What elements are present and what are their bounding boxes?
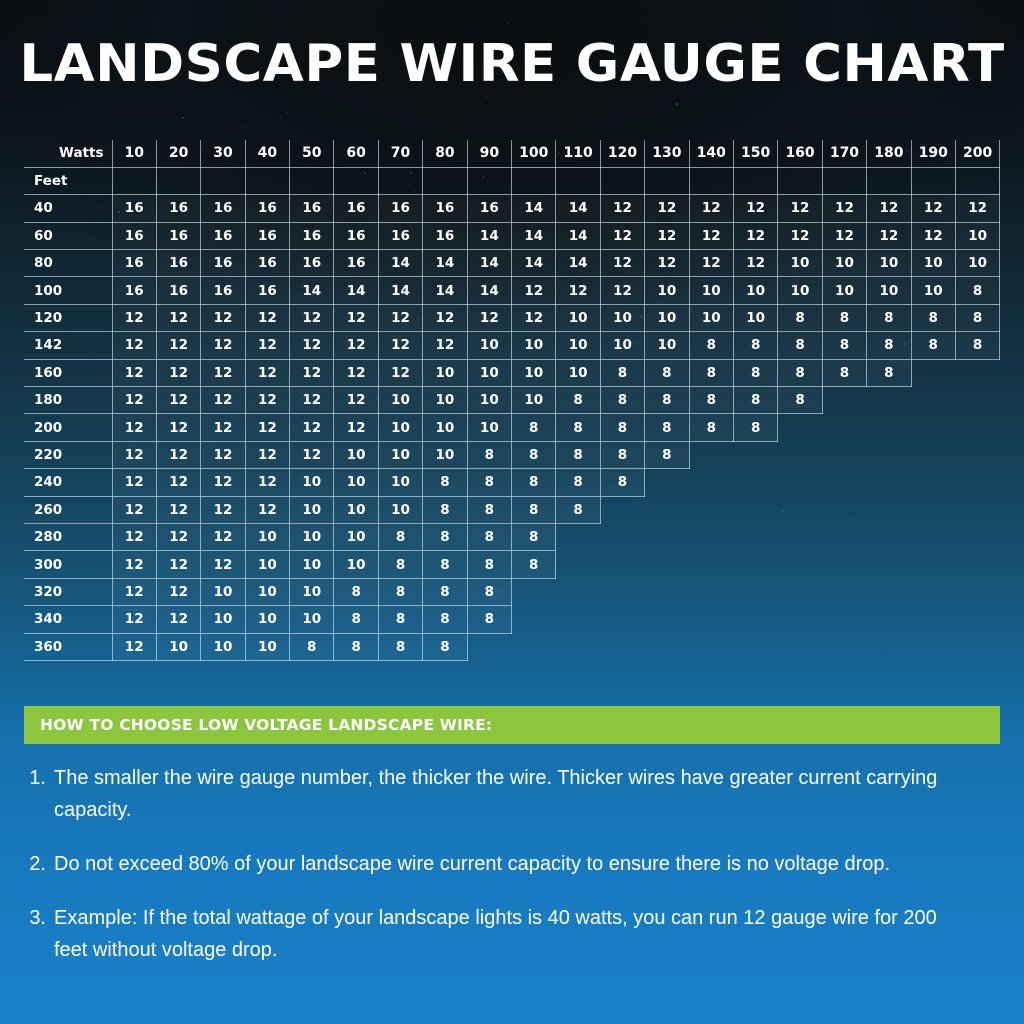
gauge-cell: 12 bbox=[112, 387, 156, 414]
column-header-watts-80: 80 bbox=[423, 140, 467, 167]
gauge-cell: 8 bbox=[867, 304, 911, 331]
gauge-cell: 12 bbox=[423, 304, 467, 331]
wire-gauge-table-container: Watts 1020304050607080901001101201301401… bbox=[24, 140, 1000, 661]
feet-axis-blank-cell bbox=[822, 167, 866, 194]
gauge-cell-empty bbox=[911, 496, 955, 523]
column-header-watts-180: 180 bbox=[867, 140, 911, 167]
gauge-cell: 8 bbox=[600, 441, 644, 468]
table-row: 142121212121212121210101010108888888 bbox=[24, 332, 1000, 359]
table-row: 32012121010108888 bbox=[24, 578, 1000, 605]
gauge-cell: 8 bbox=[512, 414, 556, 441]
column-header-watts-200: 200 bbox=[955, 140, 999, 167]
gauge-cell: 12 bbox=[156, 606, 200, 633]
gauge-cell: 12 bbox=[156, 387, 200, 414]
gauge-cell: 16 bbox=[334, 222, 378, 249]
gauge-cell: 10 bbox=[911, 250, 955, 277]
gauge-cell: 10 bbox=[290, 551, 334, 578]
gauge-cell-empty bbox=[512, 578, 556, 605]
gauge-cell: 8 bbox=[778, 387, 822, 414]
gauge-cell-empty bbox=[867, 441, 911, 468]
gauge-cell-empty bbox=[867, 469, 911, 496]
gauge-cell: 12 bbox=[911, 222, 955, 249]
gauge-cell: 10 bbox=[378, 441, 422, 468]
gauge-cell-empty bbox=[911, 578, 955, 605]
guide-note-text: Do not exceed 80% of your landscape wire… bbox=[54, 848, 890, 880]
gauge-cell: 10 bbox=[689, 304, 733, 331]
gauge-cell: 12 bbox=[201, 304, 245, 331]
row-label-feet-220: 220 bbox=[24, 441, 112, 468]
feet-axis-blank-cell bbox=[245, 167, 289, 194]
table-row: 34012121010108888 bbox=[24, 606, 1000, 633]
gauge-cell: 12 bbox=[156, 304, 200, 331]
gauge-cell: 12 bbox=[112, 304, 156, 331]
gauge-cell: 12 bbox=[955, 195, 999, 222]
gauge-cell-empty bbox=[955, 387, 999, 414]
gauge-cell: 8 bbox=[467, 578, 511, 605]
guide-note-number: 3. bbox=[24, 902, 54, 934]
gauge-cell: 10 bbox=[290, 523, 334, 550]
gauge-cell: 12 bbox=[600, 277, 644, 304]
column-header-watts-60: 60 bbox=[334, 140, 378, 167]
gauge-cell: 8 bbox=[423, 523, 467, 550]
gauge-cell: 10 bbox=[689, 277, 733, 304]
table-body: Feet401616161616161616161414121212121212… bbox=[24, 167, 1000, 660]
feet-axis-blank-cell bbox=[290, 167, 334, 194]
column-header-watts-10: 10 bbox=[112, 140, 156, 167]
gauge-cell: 10 bbox=[290, 606, 334, 633]
gauge-cell: 12 bbox=[201, 469, 245, 496]
gauge-cell-empty bbox=[955, 414, 999, 441]
gauge-cell: 12 bbox=[245, 359, 289, 386]
gauge-cell: 10 bbox=[822, 250, 866, 277]
gauge-cell: 12 bbox=[112, 414, 156, 441]
gauge-cell-empty bbox=[955, 633, 999, 660]
gauge-cell: 12 bbox=[512, 304, 556, 331]
gauge-cell: 10 bbox=[778, 250, 822, 277]
gauge-cell-empty bbox=[822, 633, 866, 660]
gauge-cell-empty bbox=[955, 551, 999, 578]
gauge-cell-empty bbox=[778, 551, 822, 578]
gauge-cell-empty bbox=[556, 523, 600, 550]
gauge-cell: 14 bbox=[556, 195, 600, 222]
gauge-cell: 12 bbox=[689, 250, 733, 277]
gauge-cell: 12 bbox=[378, 359, 422, 386]
gauge-cell: 14 bbox=[378, 277, 422, 304]
row-label-feet-340: 340 bbox=[24, 606, 112, 633]
gauge-cell: 10 bbox=[378, 387, 422, 414]
gauge-cell: 12 bbox=[112, 441, 156, 468]
feet-axis-blank-cell bbox=[689, 167, 733, 194]
gauge-cell: 10 bbox=[645, 332, 689, 359]
feet-axis-blank-cell bbox=[378, 167, 422, 194]
gauge-cell: 10 bbox=[778, 277, 822, 304]
gauge-cell: 16 bbox=[423, 195, 467, 222]
gauge-cell: 12 bbox=[600, 222, 644, 249]
gauge-cell: 8 bbox=[733, 387, 777, 414]
gauge-cell-empty bbox=[867, 414, 911, 441]
gauge-cell-empty bbox=[645, 523, 689, 550]
column-header-watts-100: 100 bbox=[512, 140, 556, 167]
gauge-cell: 14 bbox=[378, 250, 422, 277]
gauge-cell: 12 bbox=[556, 277, 600, 304]
gauge-cell-empty bbox=[955, 496, 999, 523]
gauge-cell-empty bbox=[778, 441, 822, 468]
gauge-cell: 12 bbox=[334, 304, 378, 331]
gauge-cell: 12 bbox=[290, 387, 334, 414]
gauge-cell: 8 bbox=[733, 414, 777, 441]
feet-axis-blank-cell bbox=[645, 167, 689, 194]
gauge-cell-empty bbox=[645, 578, 689, 605]
feet-axis-blank-cell bbox=[201, 167, 245, 194]
gauge-cell: 16 bbox=[201, 250, 245, 277]
gauge-cell: 12 bbox=[911, 195, 955, 222]
gauge-cell: 14 bbox=[423, 250, 467, 277]
column-header-watts-20: 20 bbox=[156, 140, 200, 167]
gauge-cell: 16 bbox=[290, 250, 334, 277]
gauge-cell: 14 bbox=[556, 222, 600, 249]
gauge-cell: 16 bbox=[112, 277, 156, 304]
gauge-cell-empty bbox=[778, 469, 822, 496]
gauge-cell: 8 bbox=[334, 633, 378, 660]
table-row: 260121212121010108888 bbox=[24, 496, 1000, 523]
gauge-cell: 8 bbox=[778, 304, 822, 331]
gauge-cell: 12 bbox=[245, 387, 289, 414]
gauge-cell: 14 bbox=[467, 222, 511, 249]
gauge-cell: 10 bbox=[955, 222, 999, 249]
gauge-cell: 12 bbox=[733, 222, 777, 249]
gauge-cell: 12 bbox=[201, 523, 245, 550]
gauge-cell: 10 bbox=[733, 277, 777, 304]
gauge-cell-empty bbox=[733, 633, 777, 660]
gauge-cell: 10 bbox=[245, 606, 289, 633]
page-title: LANDSCAPE WIRE GAUGE CHART bbox=[0, 34, 1024, 94]
gauge-cell: 12 bbox=[201, 387, 245, 414]
feet-axis-blank-cell bbox=[423, 167, 467, 194]
row-label-feet-280: 280 bbox=[24, 523, 112, 550]
gauge-cell: 8 bbox=[423, 551, 467, 578]
guide-heading-bar: HOW TO CHOOSE LOW VOLTAGE LANDSCAPE WIRE… bbox=[24, 706, 1000, 744]
gauge-cell-empty bbox=[822, 578, 866, 605]
gauge-cell: 8 bbox=[467, 551, 511, 578]
gauge-cell: 10 bbox=[467, 332, 511, 359]
gauge-cell: 12 bbox=[645, 195, 689, 222]
gauge-cell: 8 bbox=[378, 633, 422, 660]
gauge-cell-empty bbox=[911, 414, 955, 441]
gauge-cell: 16 bbox=[112, 195, 156, 222]
gauge-cell: 10 bbox=[334, 496, 378, 523]
gauge-cell: 10 bbox=[867, 250, 911, 277]
row-label-feet-300: 300 bbox=[24, 551, 112, 578]
gauge-cell: 8 bbox=[423, 496, 467, 523]
column-header-watts-110: 110 bbox=[556, 140, 600, 167]
gauge-cell-empty bbox=[512, 606, 556, 633]
gauge-cell-empty bbox=[778, 523, 822, 550]
gauge-cell: 12 bbox=[378, 304, 422, 331]
gauge-cell-empty bbox=[822, 496, 866, 523]
gauge-cell-empty bbox=[733, 469, 777, 496]
gauge-cell: 8 bbox=[512, 523, 556, 550]
gauge-cell: 8 bbox=[733, 359, 777, 386]
wire-gauge-table: Watts 1020304050607080901001101201301401… bbox=[24, 140, 1000, 661]
gauge-cell: 8 bbox=[778, 359, 822, 386]
gauge-cell-empty bbox=[645, 606, 689, 633]
gauge-cell: 8 bbox=[645, 359, 689, 386]
feet-axis-blank-cell bbox=[733, 167, 777, 194]
gauge-cell-empty bbox=[689, 523, 733, 550]
gauge-cell: 10 bbox=[512, 387, 556, 414]
table-row: 8016161616161614141414141212121210101010… bbox=[24, 250, 1000, 277]
row-label-feet-240: 240 bbox=[24, 469, 112, 496]
table-row: 4016161616161616161614141212121212121212… bbox=[24, 195, 1000, 222]
gauge-cell: 12 bbox=[867, 195, 911, 222]
feet-axis-blank-cell bbox=[334, 167, 378, 194]
gauge-cell-empty bbox=[600, 633, 644, 660]
gauge-cell: 16 bbox=[290, 195, 334, 222]
gauge-cell: 12 bbox=[201, 496, 245, 523]
gauge-cell-empty bbox=[689, 496, 733, 523]
gauge-cell: 10 bbox=[423, 387, 467, 414]
gauge-cell: 8 bbox=[378, 578, 422, 605]
table-row: 16012121212121212101010108888888 bbox=[24, 359, 1000, 386]
gauge-cell: 8 bbox=[955, 332, 999, 359]
gauge-cell: 8 bbox=[512, 441, 556, 468]
gauge-cell: 10 bbox=[467, 387, 511, 414]
gauge-cell: 16 bbox=[334, 250, 378, 277]
guide-note: 1.The smaller the wire gauge number, the… bbox=[24, 762, 976, 826]
gauge-cell: 12 bbox=[334, 359, 378, 386]
gauge-cell-empty bbox=[778, 578, 822, 605]
guide-heading-text: HOW TO CHOOSE LOW VOLTAGE LANDSCAPE WIRE… bbox=[24, 716, 492, 734]
gauge-cell-empty bbox=[556, 633, 600, 660]
gauge-cell-empty bbox=[955, 441, 999, 468]
gauge-cell: 14 bbox=[512, 250, 556, 277]
gauge-cell: 16 bbox=[467, 195, 511, 222]
table-row: 3001212121010108888 bbox=[24, 551, 1000, 578]
gauge-cell: 8 bbox=[467, 441, 511, 468]
gauge-cell: 10 bbox=[867, 277, 911, 304]
gauge-cell: 8 bbox=[378, 551, 422, 578]
gauge-cell: 10 bbox=[423, 414, 467, 441]
gauge-cell: 10 bbox=[423, 359, 467, 386]
gauge-cell: 12 bbox=[290, 414, 334, 441]
gauge-cell-empty bbox=[556, 578, 600, 605]
gauge-cell: 12 bbox=[423, 332, 467, 359]
gauge-cell-empty bbox=[822, 606, 866, 633]
gauge-cell: 12 bbox=[378, 332, 422, 359]
gauge-cell: 12 bbox=[334, 387, 378, 414]
gauge-cell: 8 bbox=[911, 332, 955, 359]
gauge-cell: 12 bbox=[290, 304, 334, 331]
gauge-cell: 12 bbox=[733, 250, 777, 277]
gauge-cell: 10 bbox=[556, 304, 600, 331]
gauge-cell: 16 bbox=[423, 222, 467, 249]
gauge-cell: 10 bbox=[645, 277, 689, 304]
guide-note: 3.Example: If the total wattage of your … bbox=[24, 902, 976, 966]
gauge-cell: 10 bbox=[378, 414, 422, 441]
guide-note-number: 2. bbox=[24, 848, 54, 880]
gauge-cell-empty bbox=[822, 469, 866, 496]
feet-axis-blank-cell bbox=[112, 167, 156, 194]
gauge-cell-empty bbox=[911, 606, 955, 633]
gauge-cell: 10 bbox=[334, 469, 378, 496]
gauge-cell: 12 bbox=[112, 332, 156, 359]
gauge-cell: 16 bbox=[201, 277, 245, 304]
column-header-watts-140: 140 bbox=[689, 140, 733, 167]
feet-axis-blank-cell bbox=[911, 167, 955, 194]
table-row: 360121010108888 bbox=[24, 633, 1000, 660]
gauge-cell: 12 bbox=[112, 606, 156, 633]
gauge-cell-empty bbox=[867, 633, 911, 660]
gauge-cell: 8 bbox=[600, 414, 644, 441]
gauge-cell: 16 bbox=[156, 222, 200, 249]
gauge-cell: 16 bbox=[156, 195, 200, 222]
row-label-feet-120: 120 bbox=[24, 304, 112, 331]
gauge-cell: 16 bbox=[201, 195, 245, 222]
guide-notes-list: 1.The smaller the wire gauge number, the… bbox=[24, 762, 976, 988]
gauge-cell: 16 bbox=[290, 222, 334, 249]
gauge-cell-empty bbox=[867, 496, 911, 523]
gauge-cell-empty bbox=[689, 578, 733, 605]
row-label-feet-260: 260 bbox=[24, 496, 112, 523]
gauge-cell-empty bbox=[778, 633, 822, 660]
gauge-cell-empty bbox=[733, 551, 777, 578]
gauge-cell: 10 bbox=[733, 304, 777, 331]
gauge-cell: 8 bbox=[512, 469, 556, 496]
gauge-cell: 10 bbox=[600, 304, 644, 331]
table-row: 200121212121212101010888888 bbox=[24, 414, 1000, 441]
gauge-cell-empty bbox=[955, 469, 999, 496]
gauge-cell: 12 bbox=[112, 496, 156, 523]
gauge-cell: 12 bbox=[689, 195, 733, 222]
gauge-cell: 8 bbox=[467, 523, 511, 550]
gauge-cell-empty bbox=[867, 523, 911, 550]
gauge-cell-empty bbox=[955, 523, 999, 550]
gauge-cell-empty bbox=[600, 578, 644, 605]
gauge-cell: 16 bbox=[112, 222, 156, 249]
gauge-cell: 10 bbox=[556, 359, 600, 386]
gauge-cell: 14 bbox=[467, 277, 511, 304]
column-header-watts-160: 160 bbox=[778, 140, 822, 167]
gauge-cell: 10 bbox=[290, 496, 334, 523]
row-label-feet-60: 60 bbox=[24, 222, 112, 249]
column-header-watts-190: 190 bbox=[911, 140, 955, 167]
gauge-cell-empty bbox=[822, 551, 866, 578]
table-row: 6016161616161616161414141212121212121212… bbox=[24, 222, 1000, 249]
gauge-cell: 14 bbox=[290, 277, 334, 304]
gauge-cell: 12 bbox=[290, 332, 334, 359]
gauge-cell-empty bbox=[600, 606, 644, 633]
gauge-cell-empty bbox=[733, 496, 777, 523]
gauge-cell-empty bbox=[778, 606, 822, 633]
gauge-cell-empty bbox=[556, 551, 600, 578]
gauge-cell: 12 bbox=[112, 359, 156, 386]
gauge-cell: 10 bbox=[645, 304, 689, 331]
gauge-cell: 12 bbox=[201, 332, 245, 359]
gauge-cell: 8 bbox=[556, 469, 600, 496]
gauge-cell: 10 bbox=[334, 441, 378, 468]
gauge-cell: 12 bbox=[112, 523, 156, 550]
gauge-cell: 14 bbox=[423, 277, 467, 304]
infographic-page: LANDSCAPE WIRE GAUGE CHART Watts 1020304… bbox=[0, 0, 1024, 1024]
gauge-cell: 12 bbox=[156, 551, 200, 578]
gauge-cell-empty bbox=[955, 578, 999, 605]
gauge-cell: 12 bbox=[245, 496, 289, 523]
gauge-cell: 10 bbox=[201, 578, 245, 605]
gauge-cell-empty bbox=[911, 551, 955, 578]
gauge-cell: 10 bbox=[467, 359, 511, 386]
gauge-cell: 10 bbox=[512, 359, 556, 386]
gauge-cell: 16 bbox=[156, 277, 200, 304]
column-header-watts-150: 150 bbox=[733, 140, 777, 167]
gauge-cell-empty bbox=[733, 523, 777, 550]
gauge-cell-empty bbox=[689, 551, 733, 578]
row-label-feet-100: 100 bbox=[24, 277, 112, 304]
gauge-cell: 14 bbox=[512, 195, 556, 222]
gauge-cell-empty bbox=[600, 496, 644, 523]
gauge-cell: 12 bbox=[822, 222, 866, 249]
gauge-cell: 10 bbox=[290, 578, 334, 605]
gauge-cell: 8 bbox=[689, 359, 733, 386]
column-header-watts-90: 90 bbox=[467, 140, 511, 167]
gauge-cell: 12 bbox=[645, 250, 689, 277]
gauge-cell: 10 bbox=[334, 523, 378, 550]
gauge-cell-empty bbox=[733, 606, 777, 633]
gauge-cell: 8 bbox=[822, 332, 866, 359]
table-header-row: Watts 1020304050607080901001101201301401… bbox=[24, 140, 1000, 167]
gauge-cell-empty bbox=[867, 606, 911, 633]
guide-note: 2.Do not exceed 80% of your landscape wi… bbox=[24, 848, 976, 880]
gauge-cell-empty bbox=[600, 551, 644, 578]
gauge-cell: 8 bbox=[423, 578, 467, 605]
gauge-cell-empty bbox=[911, 387, 955, 414]
gauge-cell-empty bbox=[822, 387, 866, 414]
row-label-feet-200: 200 bbox=[24, 414, 112, 441]
gauge-cell-empty bbox=[512, 633, 556, 660]
gauge-cell: 8 bbox=[334, 578, 378, 605]
gauge-cell-empty bbox=[645, 551, 689, 578]
column-header-watts-130: 130 bbox=[645, 140, 689, 167]
gauge-cell: 8 bbox=[911, 304, 955, 331]
gauge-cell: 12 bbox=[112, 469, 156, 496]
gauge-cell-empty bbox=[822, 523, 866, 550]
gauge-cell: 12 bbox=[201, 441, 245, 468]
feet-axis-blank-cell bbox=[512, 167, 556, 194]
gauge-cell-empty bbox=[822, 441, 866, 468]
table-row: 2401212121210101088888 bbox=[24, 469, 1000, 496]
gauge-cell-empty bbox=[955, 606, 999, 633]
gauge-cell-empty bbox=[733, 441, 777, 468]
gauge-cell: 14 bbox=[556, 250, 600, 277]
gauge-cell: 10 bbox=[245, 551, 289, 578]
gauge-cell: 8 bbox=[778, 332, 822, 359]
row-label-feet-360: 360 bbox=[24, 633, 112, 660]
feet-axis-blank-cell bbox=[556, 167, 600, 194]
gauge-cell-empty bbox=[467, 633, 511, 660]
gauge-cell-empty bbox=[911, 633, 955, 660]
gauge-cell: 14 bbox=[512, 222, 556, 249]
gauge-cell: 16 bbox=[378, 222, 422, 249]
gauge-cell: 8 bbox=[556, 441, 600, 468]
gauge-cell: 14 bbox=[467, 250, 511, 277]
gauge-cell: 12 bbox=[245, 332, 289, 359]
gauge-cell: 8 bbox=[512, 551, 556, 578]
table-row: 18012121212121210101010888888 bbox=[24, 387, 1000, 414]
gauge-cell: 8 bbox=[600, 359, 644, 386]
gauge-cell-empty bbox=[911, 441, 955, 468]
gauge-cell: 12 bbox=[156, 441, 200, 468]
feet-axis-blank-cell bbox=[778, 167, 822, 194]
gauge-cell-empty bbox=[911, 359, 955, 386]
